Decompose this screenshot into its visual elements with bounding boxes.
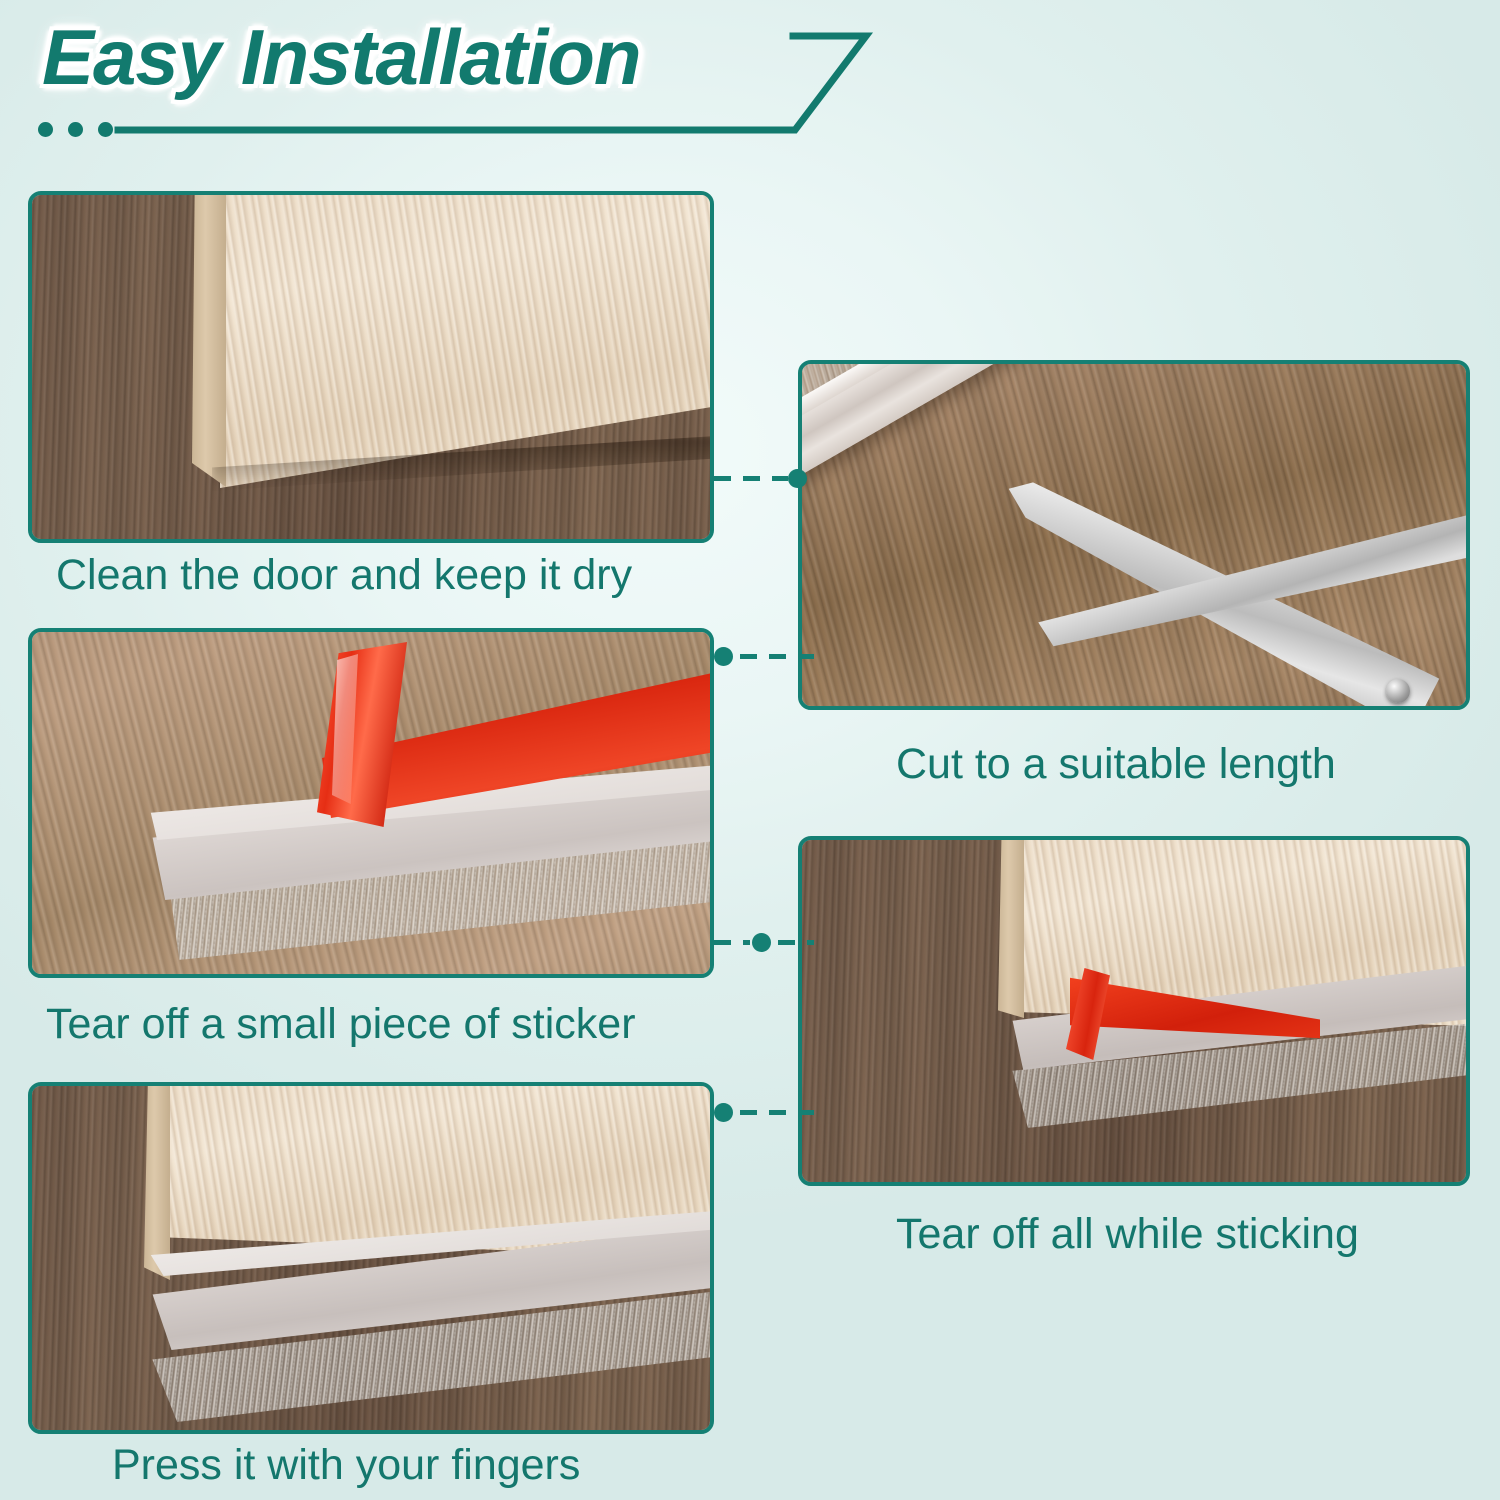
scissors-pivot-rivet (1386, 679, 1410, 703)
connector-step3-to-step4 (714, 930, 814, 954)
door-side-edge-3 (144, 1086, 170, 1280)
step-4-photo (802, 840, 1466, 1182)
step-2-photo (802, 364, 1466, 706)
step-3-image-panel (28, 628, 714, 978)
connector-dot (714, 1103, 733, 1122)
connector-step5-to-step4 (714, 1100, 814, 1124)
header-banner: Easy Installation (0, 0, 1500, 175)
step-2-image-panel (798, 360, 1470, 710)
step-4-caption: Tear off all while sticking (896, 1210, 1359, 1259)
connector-dashes (740, 654, 814, 659)
step-1-photo (32, 195, 710, 539)
step-1-caption: Clean the door and keep it dry (56, 551, 632, 600)
connector-dot (752, 933, 771, 952)
connector-step1-to-step2 (714, 466, 814, 490)
connector-dashes (740, 1110, 814, 1115)
connector-step3-to-step2 (714, 644, 814, 668)
connector-dot (788, 469, 807, 488)
step-5-caption: Press it with your fingers (112, 1441, 580, 1490)
door-side-edge (192, 195, 226, 487)
title-dot-1 (38, 122, 53, 137)
step-1-image-panel (28, 191, 714, 543)
step-2-caption: Cut to a suitable length (896, 740, 1336, 789)
step-4-image-panel (798, 836, 1470, 1186)
page-title: Easy Installation (42, 12, 641, 103)
step-5-photo (32, 1086, 710, 1430)
connector-dot (714, 647, 733, 666)
door-side-edge-2 (998, 840, 1024, 1018)
step-3-caption: Tear off a small piece of sticker (46, 1000, 636, 1049)
connector-dashes (714, 476, 788, 481)
connector-dashes (778, 940, 814, 945)
connector-dashes (714, 940, 750, 945)
step-5-image-panel (28, 1082, 714, 1434)
title-dot-3 (98, 122, 113, 137)
step-3-photo (32, 632, 710, 974)
title-dot-2 (68, 122, 83, 137)
